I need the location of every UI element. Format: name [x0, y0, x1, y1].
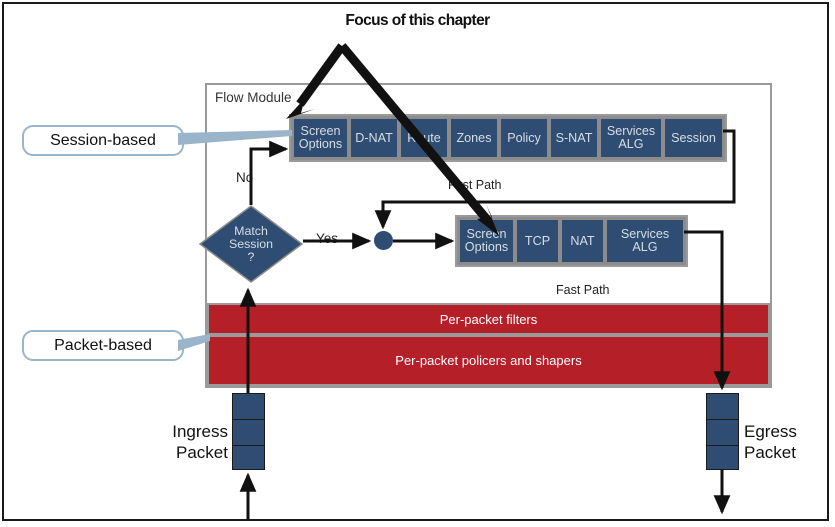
band-per-packet-filters: Per-packet filters: [207, 303, 770, 335]
egress-packet-stack: [706, 393, 739, 470]
band-label-policers: Per-packet policers and shapers: [395, 353, 581, 368]
first-path-box-zones[interactable]: Zones: [450, 118, 498, 158]
callout-session-based[interactable]: Session-based: [22, 125, 184, 156]
decision-yes-label: Yes: [316, 231, 338, 246]
first-path-label-route: Route: [406, 132, 442, 145]
egress-label-line-1: Egress: [744, 421, 829, 442]
ingress-packet-label: Ingress Packet: [150, 421, 228, 463]
fast-path-label-screen-options: ScreenOptions: [464, 228, 509, 254]
match-session-decision[interactable]: Match Session ?: [199, 205, 303, 283]
first-path-label-services-alg: ServicesALG: [606, 125, 656, 151]
first-path-box-session[interactable]: Session: [664, 118, 723, 158]
packet-segment: [233, 420, 264, 446]
band-per-packet-policers: Per-packet policers and shapers: [207, 335, 770, 386]
first-path-box-services-alg[interactable]: ServicesALG: [600, 118, 662, 158]
decision-no-label: No: [236, 170, 253, 185]
callout-label-packet-based: Packet-based: [54, 337, 152, 355]
packet-segment: [707, 394, 738, 420]
fast-path-box-tcp[interactable]: TCP: [516, 219, 559, 263]
callout-packet-based[interactable]: Packet-based: [22, 330, 184, 361]
fast-path-label-tcp: TCP: [524, 235, 551, 248]
fast-path-box-services-alg[interactable]: ServicesALG: [606, 219, 684, 263]
fast-path-box-screen-options[interactable]: ScreenOptions: [459, 219, 514, 263]
first-path-label-screen-options: ScreenOptions: [298, 125, 343, 151]
flow-module-label: Flow Module: [215, 90, 292, 105]
fast-path-box-nat[interactable]: NAT: [561, 219, 604, 263]
fast-path-label-nat: NAT: [569, 235, 595, 248]
packet-segment: [233, 446, 264, 471]
first-path-box-screen-options[interactable]: ScreenOptions: [293, 118, 348, 158]
diagram-canvas: Focus of this chapter Flow Module Screen…: [0, 0, 835, 527]
first-path-box-s-nat[interactable]: S-NAT: [550, 118, 598, 158]
callout-label-session-based: Session-based: [50, 132, 156, 150]
first-path-label-session: Session: [670, 132, 717, 145]
first-path-label-zones: Zones: [455, 132, 492, 145]
packet-segment: [707, 420, 738, 446]
first-path-label-s-nat: S-NAT: [555, 132, 594, 145]
fast-path-label-services-alg: ServicesALG: [620, 228, 670, 254]
first-path-box-d-nat[interactable]: D-NAT: [350, 118, 398, 158]
diamond-line-1: Match: [234, 225, 268, 238]
diamond-line-3: ?: [248, 251, 255, 264]
ingress-label-line-1: Ingress: [150, 421, 228, 442]
ingress-label-line-2: Packet: [150, 442, 228, 463]
egress-label-line-2: Packet: [744, 442, 829, 463]
diamond-text: Match Session ?: [199, 205, 303, 283]
first-path-caption: First Path: [448, 178, 502, 192]
first-path-box-policy[interactable]: Policy: [500, 118, 548, 158]
diamond-line-2: Session: [229, 238, 273, 251]
fast-path-caption: Fast Path: [556, 283, 610, 297]
ingress-packet-stack: [232, 393, 265, 470]
egress-packet-label: Egress Packet: [744, 421, 829, 463]
first-path-label-d-nat: D-NAT: [354, 132, 394, 145]
packet-segment: [707, 446, 738, 471]
first-path-label-policy: Policy: [506, 132, 542, 145]
first-path-box-route[interactable]: Route: [400, 118, 448, 158]
band-label-filters: Per-packet filters: [440, 312, 538, 327]
junction-dot: [374, 231, 393, 250]
page-title: Focus of this chapter: [0, 12, 835, 30]
packet-segment: [233, 394, 264, 420]
